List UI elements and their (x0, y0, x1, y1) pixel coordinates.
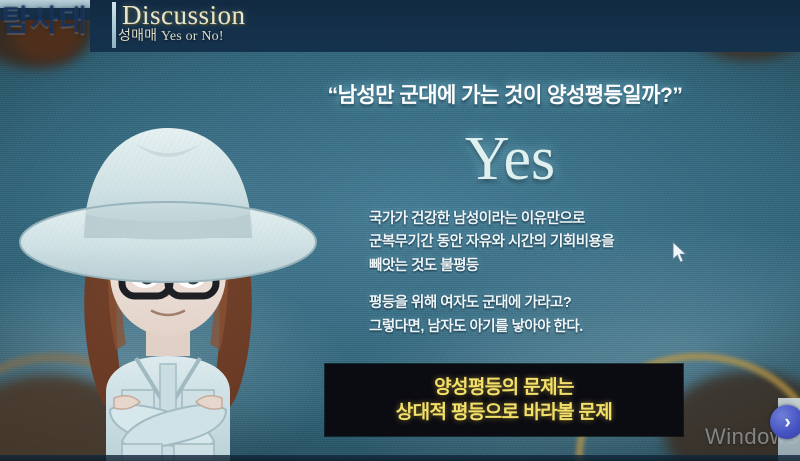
caption-line-1: 양성평등의 문제는 (434, 377, 574, 398)
slide-answer: Yes (360, 128, 660, 190)
slide-paragraph-1: 국가가 건강한 남성이라는 이유만으로 군복무기간 동안 자유와 시간의 기회비… (369, 208, 679, 278)
body-line: 평등을 위해 여자도 군대에 가라고? (369, 292, 679, 315)
header-title: Discussion (122, 2, 246, 29)
slide-body: 국가가 건강한 남성이라는 이유만으로 군복무기간 동안 자유와 시간의 기회비… (369, 208, 679, 339)
header-accent-bar (112, 2, 116, 48)
next-arrow-glyph: › (784, 413, 790, 432)
character-body (106, 356, 230, 461)
next-arrow-icon[interactable]: › (770, 405, 800, 439)
character-illustration (18, 92, 318, 461)
header-subtitle: 성매매 Yes or No! (118, 30, 224, 44)
body-line: 빼앗는 것도 불평등 (369, 255, 679, 278)
program-logo: 탐사대 (2, 0, 88, 40)
body-line: 국가가 건강한 남성이라는 이유만으로 (369, 208, 679, 231)
screen-bottom-edge (0, 455, 800, 461)
body-line: 그렇다면, 남자도 아기를 낳아야 한다. (369, 316, 679, 339)
caption-line-2: 상대적 평등으로 바라볼 문제 (396, 402, 613, 423)
body-line: 군복무기간 동안 자유와 시간의 기회비용을 (369, 231, 679, 254)
character-hat (20, 128, 316, 282)
slide-paragraph-2: 평등을 위해 여자도 군대에 가라고? 그렇다면, 남자도 아기를 낳아야 한다… (369, 292, 679, 339)
slide-question: “남성만 군대에 가는 것이 양성평등일까?” (300, 84, 710, 107)
tv-screenshot-stage: 탐사대 Discussion 성매매 Yes or No! (0, 0, 800, 461)
caption-box: 양성평등의 문제는 상대적 평등으로 바라볼 문제 (325, 364, 683, 436)
